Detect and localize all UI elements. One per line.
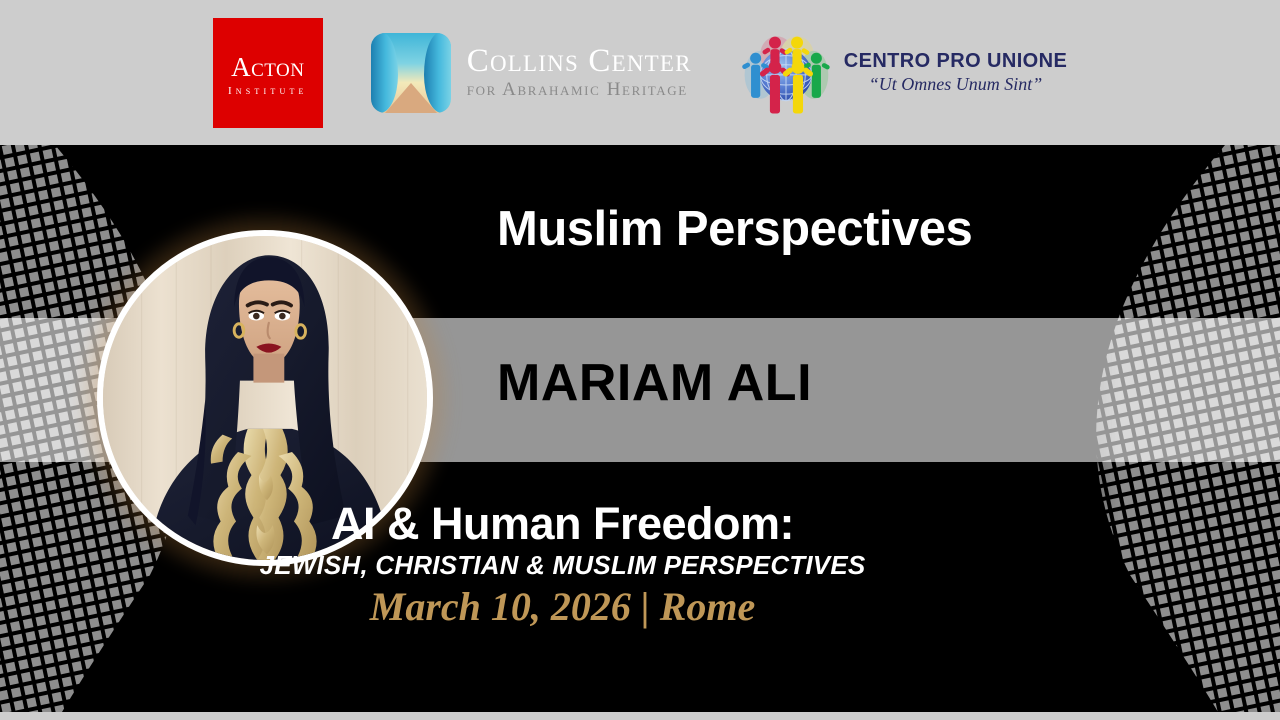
collins-center-text: Collins Center for Abrahamic Heritage — [467, 44, 692, 102]
event-info-block: AI & Human Freedom: JEWISH, CHRISTIAN & … — [0, 500, 1280, 629]
parted-path-icon — [371, 33, 451, 113]
acton-logo-mark: Acton Institute — [213, 18, 323, 128]
acton-logo-main-text: Acton — [231, 54, 304, 81]
speaker-name: MARIAM ALI — [497, 357, 812, 409]
logo-acton-institute: Acton Institute — [213, 18, 323, 128]
presentation-slide: Acton Institute Collins Center for Abrah… — [0, 0, 1280, 720]
centro-pro-unione-motto: “Ut Omnes Unum Sint” — [869, 74, 1043, 96]
bottom-strip — [0, 712, 1280, 720]
icon-path — [385, 83, 437, 113]
acton-logo-sub-text: Institute — [228, 86, 308, 97]
logo-bar: Acton Institute Collins Center for Abrah… — [0, 0, 1280, 145]
event-date-location: March 10, 2026 | Rome — [0, 585, 1125, 629]
centro-pro-unione-title: CENTRO PRO UNIONE — [844, 50, 1067, 72]
collins-center-subtitle: for Abrahamic Heritage — [467, 80, 692, 101]
logo-collins-center: Collins Center for Abrahamic Heritage — [371, 33, 692, 113]
logo-centro-pro-unione: CENTRO PRO UNIONE “Ut Omnes Unum Sint” — [740, 27, 1067, 119]
session-title: Muslim Perspectives — [497, 205, 972, 254]
slide-body: Muslim Perspectives MARIAM ALI AI & Huma… — [0, 145, 1280, 712]
event-subtitle: JEWISH, CHRISTIAN & MUSLIM PERSPECTIVES — [0, 551, 1125, 581]
centro-pro-unione-text: CENTRO PRO UNIONE “Ut Omnes Unum Sint” — [844, 50, 1067, 96]
collins-center-title: Collins Center — [467, 44, 692, 79]
globe-people-icon — [740, 27, 832, 119]
event-title: AI & Human Freedom: — [0, 500, 1125, 547]
